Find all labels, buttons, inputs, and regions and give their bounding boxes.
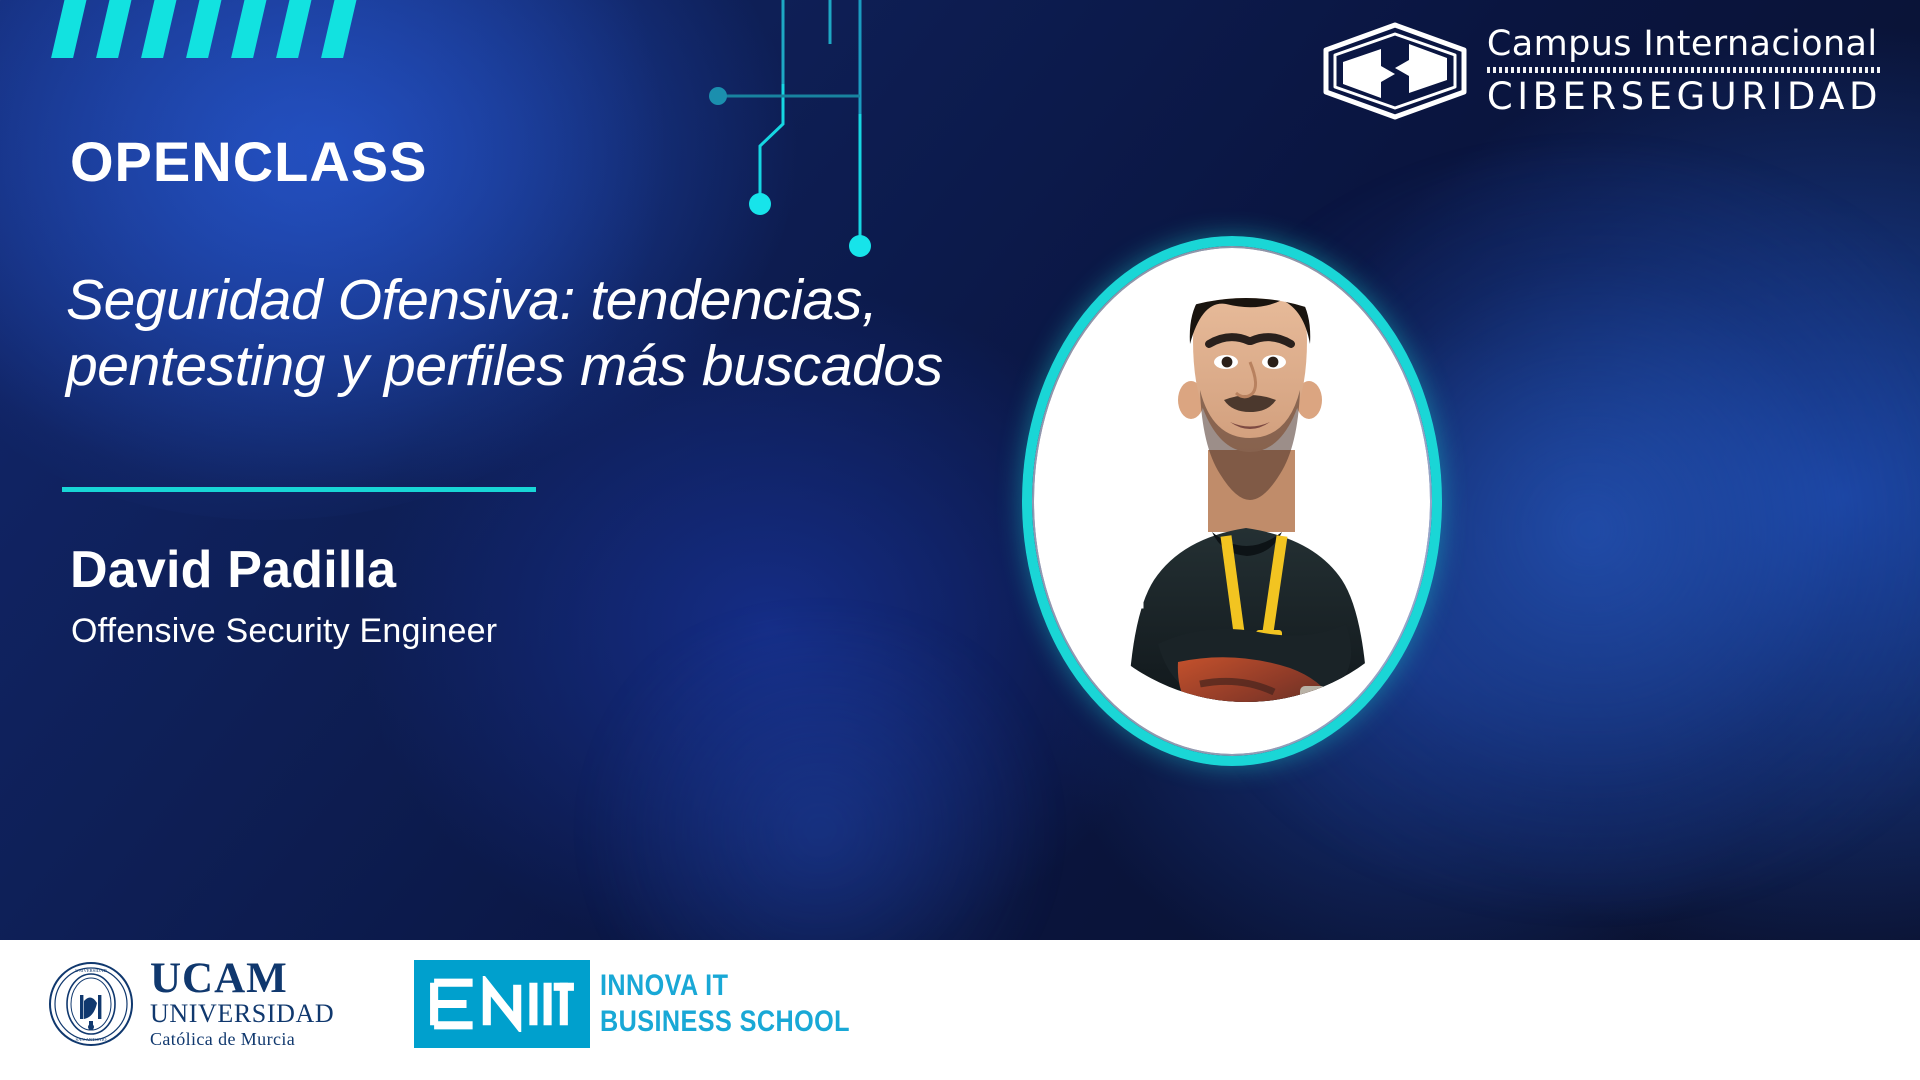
ucam-seal-icon: UNIVERSIDAD SAN ANTONIO xyxy=(48,961,134,1047)
cyan-divider-rule xyxy=(62,487,536,492)
eniit-mark-box xyxy=(414,960,590,1048)
slash-mark xyxy=(186,0,222,58)
openclass-slide: Campus Internacional CIBERSEGURIDAD OPEN… xyxy=(0,0,1920,1080)
eniit-line-2: BUSINESS SCHOOL xyxy=(600,1004,850,1039)
circuit-trace-decoration xyxy=(690,0,920,286)
logo-line-1: Campus Internacional xyxy=(1487,27,1882,62)
slash-mark xyxy=(231,0,267,58)
svg-text:SAN ANTONIO: SAN ANTONIO xyxy=(76,1037,108,1042)
eniit-logo[interactable]: INNOVA IT BUSINESS SCHOOL xyxy=(414,960,898,1048)
cics-hexagon-mark-icon xyxy=(1319,22,1471,120)
campus-internacional-logo: Campus Internacional CIBERSEGURIDAD xyxy=(1319,22,1882,120)
logo-line-2: CIBERSEGURIDAD xyxy=(1487,78,1882,115)
ucam-line-3: Católica de Murcia xyxy=(150,1029,334,1050)
footer-bar: UNIVERSIDAD SAN ANTONIO UCAM UNIVERSIDAD… xyxy=(0,940,1920,1080)
logo-dashed-divider xyxy=(1487,67,1882,74)
circuit-node-icon xyxy=(749,193,771,215)
avatar xyxy=(1050,232,1450,772)
slash-mark xyxy=(276,0,312,58)
eniit-wordmark-icon xyxy=(426,976,578,1032)
circuit-node-icon xyxy=(849,235,871,257)
diagonal-slashes-decoration xyxy=(58,0,350,58)
svg-text:UNIVERSIDAD: UNIVERSIDAD xyxy=(75,968,107,973)
ucam-line-2: UNIVERSIDAD xyxy=(150,1000,334,1029)
slash-mark xyxy=(96,0,132,58)
footer-logo-group: UNIVERSIDAD SAN ANTONIO UCAM UNIVERSIDAD… xyxy=(48,958,898,1049)
speaker-role: Offensive Security Engineer xyxy=(71,612,497,651)
speaker-name: David Padilla xyxy=(70,540,396,600)
ucam-line-1: UCAM xyxy=(150,958,334,1000)
circuit-node-icon xyxy=(709,87,727,105)
page-title: Seguridad Ofensiva: tendencias, pentesti… xyxy=(66,267,1026,399)
slash-mark xyxy=(141,0,177,58)
ucam-logo[interactable]: UNIVERSIDAD SAN ANTONIO UCAM UNIVERSIDAD… xyxy=(48,958,334,1049)
eniit-line-1: INNOVA IT xyxy=(600,968,850,1003)
kicker-openclass: OPENCLASS xyxy=(70,134,428,190)
